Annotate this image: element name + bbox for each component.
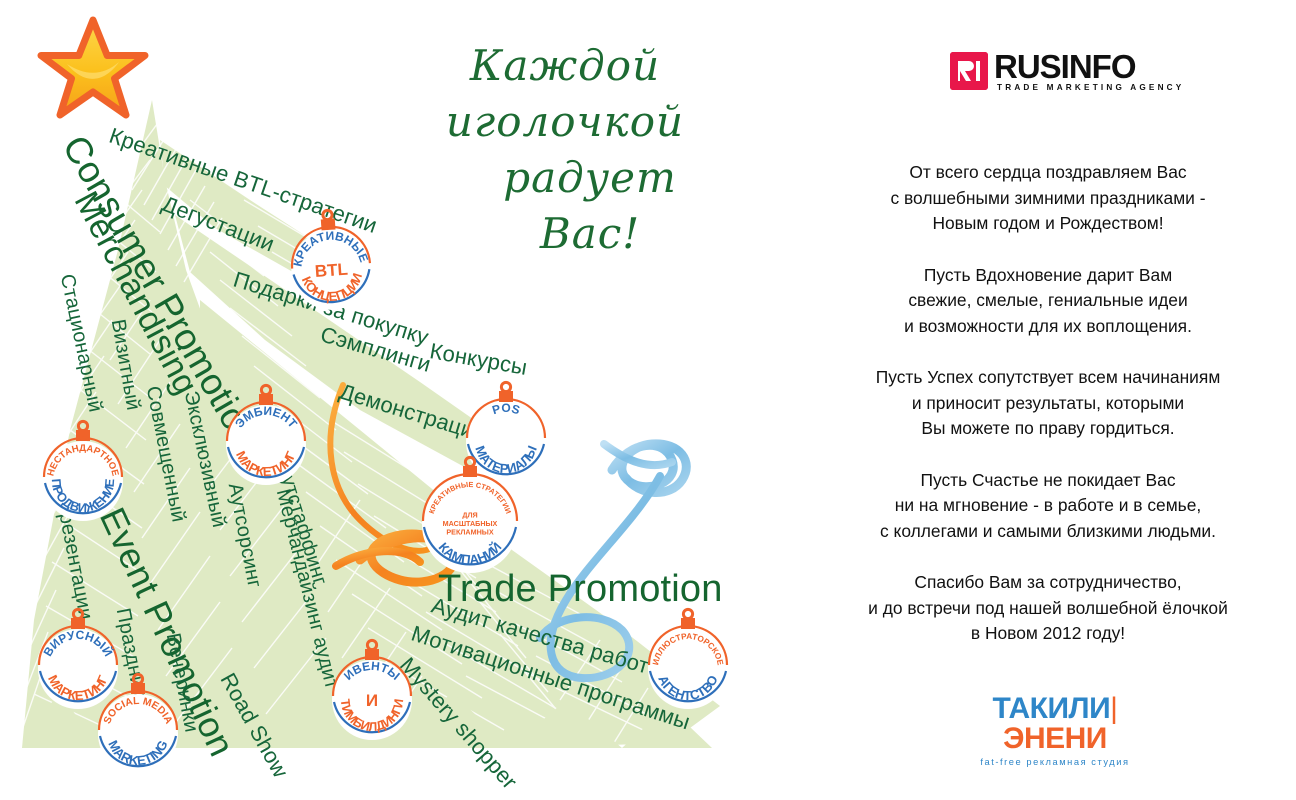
- studio-separator: |: [1110, 692, 1117, 725]
- rusinfo-wordmark: RUSINFO: [994, 50, 1136, 84]
- ornament-center-text: РЕКЛАМНЫХ: [446, 528, 493, 537]
- ornament-campaigns: КРЕАТИВНЫЕ СТРАТЕГИИКАМПАНИЙДЛЯМАСШТАБНЫ…: [409, 455, 531, 577]
- ornament-center-text: И: [366, 691, 378, 710]
- studio-tagline: fat-free рекламная студия: [950, 757, 1160, 767]
- message-line: Спасибо Вам за сотрудничество,: [914, 572, 1181, 592]
- message-line: в Новом 2012 году!: [971, 623, 1125, 643]
- rusinfo-tagline: TRADE MARKETING AGENCY: [997, 83, 1184, 92]
- message-line: Пусть Вдохновение дарит Вам: [924, 265, 1172, 285]
- message-paragraph: От всего сердца поздравляем Васс волшебн…: [818, 160, 1278, 237]
- message-line: с коллегами и самыми близкими людьми.: [880, 521, 1216, 541]
- headline-line-2: радует Вас!: [400, 150, 730, 262]
- ornament-arc-text: POS: [490, 401, 521, 417]
- message-line: свежие, смелые, гениальные идеи: [908, 290, 1187, 310]
- ornament-nonstandard: НЕСТАНДАРТНОЕПРОДВИЖЕНИЕ: [30, 419, 136, 525]
- ornament-illustration: ИЛЛЮСТРАТОРСКОЕАГЕНТСТВО: [635, 607, 741, 713]
- rusinfo-badge-icon: [950, 52, 988, 90]
- message-line: и приносит результаты, которыми: [912, 393, 1184, 413]
- ornament-events: ИВЕНТЫТИМБИЛДИНГИИ: [319, 638, 425, 744]
- message-line: ни на мгновение - в работе и в семье,: [895, 495, 1201, 515]
- ornament-center-text: BTL: [314, 260, 348, 281]
- ornament-smm: SOCIAL MEDIAMARKETING: [85, 672, 191, 778]
- message-paragraph: Пусть Успех сопутствует всем начинаниями…: [818, 365, 1278, 442]
- message-paragraph: Пусть Счастье не покидает Васни на мгнов…: [818, 468, 1278, 545]
- page-title: Каждой иголочкой радует Вас!: [400, 38, 730, 178]
- studio-wordmark: ТАКИЛИ|ЭНЕНИ: [950, 694, 1160, 754]
- message-line: и до встречи под нашей волшебной ёлочкой: [868, 598, 1228, 618]
- greeting-card: Креативные BTL-стратегииConsumer Promoti…: [0, 0, 1296, 800]
- studio-logo[interactable]: ТАКИЛИ|ЭНЕНИ fat-free рекламная студия: [950, 694, 1160, 742]
- star-topper: [41, 20, 145, 115]
- message-line: Пусть Счастье не покидает Вас: [920, 470, 1175, 490]
- message-line: с волшебными зимними праздниками -: [890, 188, 1205, 208]
- message-line: Новым годом и Рождеством!: [932, 213, 1163, 233]
- message-line: Пусть Успех сопутствует всем начинаниям: [876, 367, 1221, 387]
- message-line: и возможности для их воплощения.: [904, 316, 1192, 336]
- rusinfo-logo[interactable]: RUSINFO TRADE MARKETING AGENCY: [950, 52, 1200, 94]
- ornament-ambient: ЭМБИЕНТМАРКЕТИНГ: [213, 383, 319, 489]
- message-paragraph: Пусть Вдохновение дарит Вамсвежие, смелы…: [818, 263, 1278, 340]
- studio-name-part2: ЭНЕНИ: [1003, 722, 1107, 755]
- message-panel: RUSINFO TRADE MARKETING AGENCY От всего …: [800, 0, 1296, 800]
- studio-name-part1: ТАКИЛИ: [993, 692, 1111, 725]
- ornament-btl: КРЕАТИВНЫЕКОНЦЕПЦИИBTL: [274, 204, 387, 317]
- greeting-message: От всего сердца поздравляем Васс волшебн…: [818, 160, 1278, 647]
- headline-line-1: Каждой иголочкой: [400, 38, 730, 150]
- message-line: От всего сердца поздравляем Вас: [909, 162, 1186, 182]
- message-line: Вы можете по праву гордиться.: [921, 418, 1174, 438]
- message-paragraph: Спасибо Вам за сотрудничество,и до встре…: [818, 570, 1278, 647]
